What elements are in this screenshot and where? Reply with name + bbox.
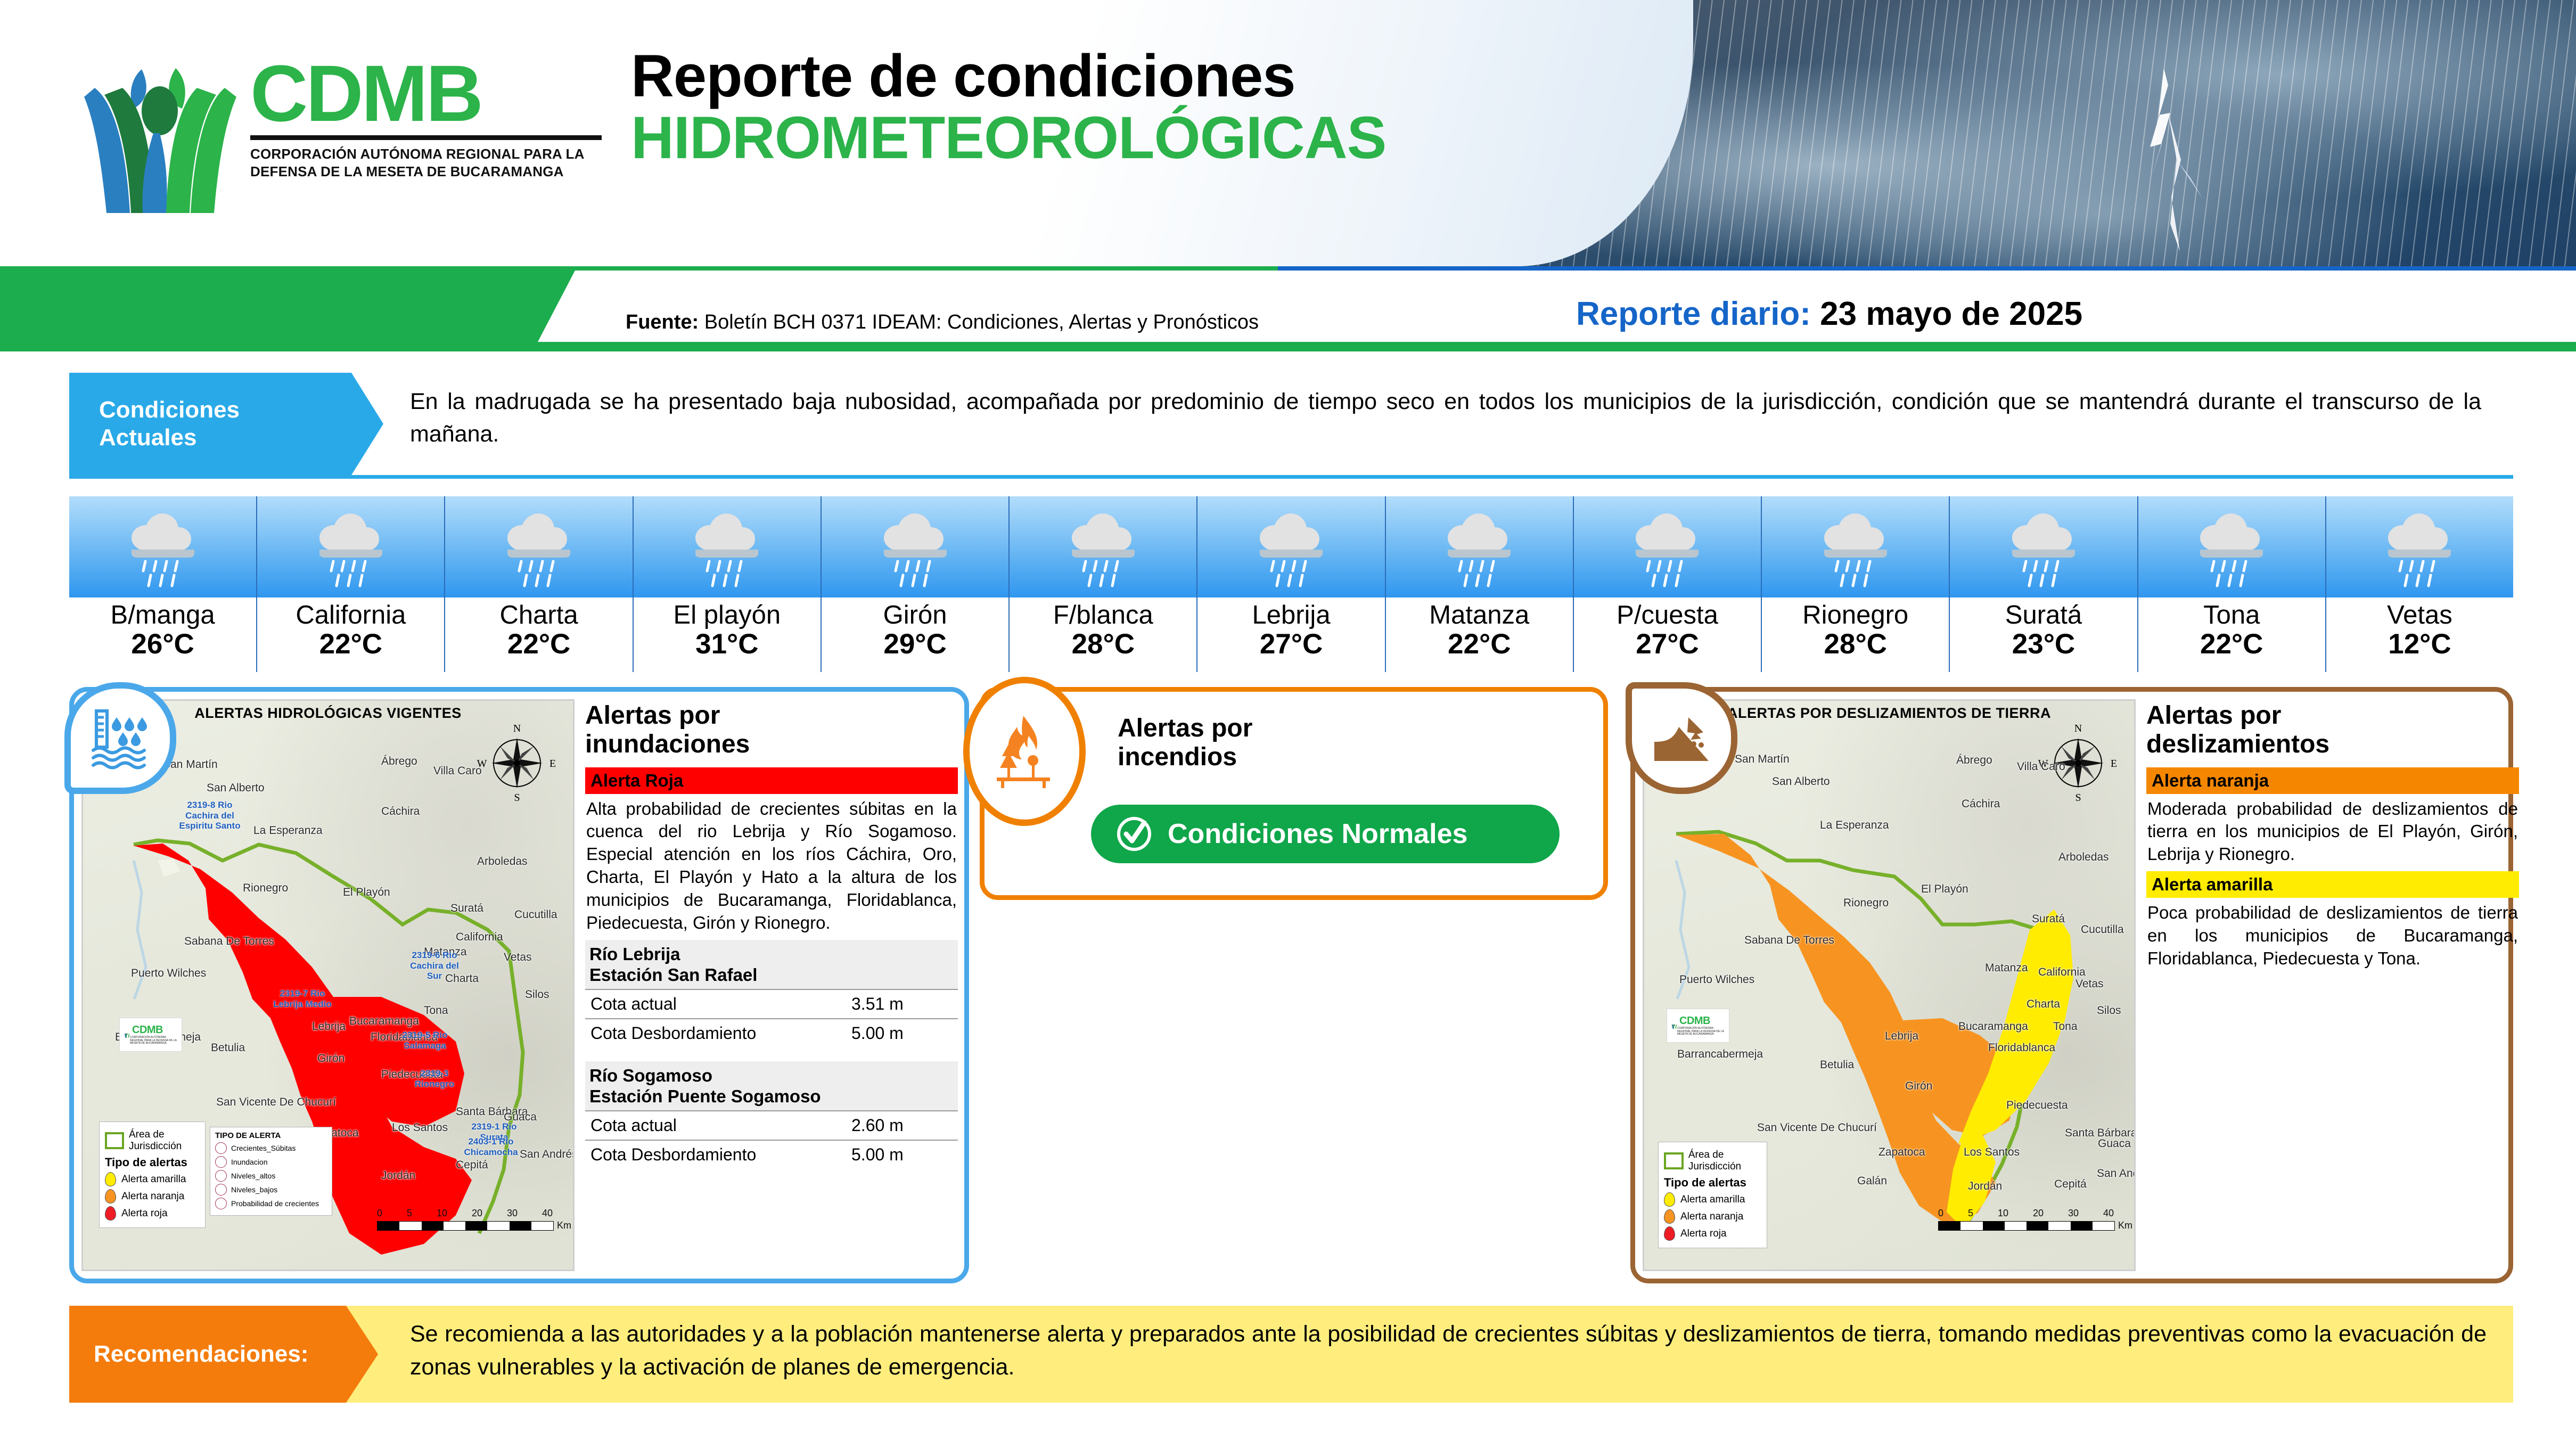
map-city-label: Suratá bbox=[450, 902, 483, 915]
row-label: Cota Desbordamiento bbox=[590, 1145, 756, 1165]
map-city-label: Los Santos bbox=[392, 1121, 448, 1134]
landslide-alert-details: Alertas por deslizamientos Alerta naranj… bbox=[2146, 701, 2519, 976]
weather-cell[interactable]: Lebrija 27°C bbox=[1197, 496, 1385, 672]
municipality-name: Tona bbox=[2138, 602, 2325, 629]
scale-blocks bbox=[377, 1221, 554, 1231]
map-city-label: Lebrija bbox=[312, 1020, 346, 1033]
scale-blocks bbox=[1938, 1221, 2115, 1231]
alert-type-title: TIPO DE ALERTA bbox=[215, 1131, 327, 1140]
report-date-line: Reporte diario: 23 mayo de 2025 bbox=[1576, 295, 2082, 333]
map-city-label: El Playón bbox=[1921, 883, 1968, 896]
municipality-temperature: 12°C bbox=[2326, 629, 2513, 660]
landslide-alert-level-badge: Alerta naranja bbox=[2146, 767, 2519, 794]
rain-cloud-icon bbox=[1816, 506, 1896, 591]
scale-tick: 20 bbox=[472, 1208, 482, 1219]
fire-status-label: Condiciones Normales bbox=[1168, 818, 1467, 850]
map-city-label: San Vicente De Chucurí bbox=[1757, 1121, 1877, 1134]
map-city-label: Charta bbox=[2027, 998, 2060, 1011]
municipality-temperature: 27°C bbox=[1197, 629, 1384, 660]
legend-color-swatch bbox=[1664, 1226, 1675, 1241]
map-city-label: Puerto Wilches bbox=[1679, 973, 1754, 986]
map-cdmb-logo: CDMB CORPORACIÓN AUTÓNOMA REGIONAL PARA … bbox=[1667, 1009, 1729, 1043]
landslide-icon bbox=[1650, 709, 1713, 767]
weather-cell[interactable]: P/cuesta 27°C bbox=[1574, 496, 1762, 672]
weather-cell[interactable]: California 22°C bbox=[257, 496, 445, 672]
map-logo-subtitle: CORPORACIÓN AUTÓNOMA REGIONAL PARA LA DE… bbox=[1677, 1027, 1725, 1036]
flood-alert-details: Alertas por inundaciones Alerta Roja Alt… bbox=[585, 701, 958, 1169]
municipality-name: Suratá bbox=[1950, 602, 2137, 629]
map-city-label: Cucutilla bbox=[2081, 923, 2124, 936]
flood-title: Alertas por inundaciones bbox=[585, 701, 958, 759]
map-city-label: Cáchira bbox=[1962, 798, 2000, 811]
flood-badge bbox=[64, 682, 176, 794]
map-city-label: Cucutilla bbox=[514, 908, 557, 921]
map-river-label: 2403-1 Rio Chicamocha bbox=[459, 1136, 523, 1157]
scale-tick: 0 bbox=[1938, 1208, 1943, 1219]
map-scale-bar: 0510203040 Km bbox=[377, 1208, 571, 1231]
map-city-label: Puerto Wilches bbox=[131, 967, 206, 980]
rain-cloud-icon bbox=[2004, 506, 2083, 591]
map-city-label: Galán bbox=[1857, 1175, 1887, 1188]
map-river-label: 2319-3 Rionegro bbox=[403, 1068, 466, 1089]
legend-type-row: Alerta naranja bbox=[105, 1189, 200, 1204]
legend-color-swatch bbox=[1664, 1192, 1675, 1207]
map-city-label: Betulia bbox=[1820, 1059, 1854, 1071]
weather-sky bbox=[2326, 496, 2513, 597]
svg-text:N: N bbox=[513, 723, 521, 734]
check-circle-icon bbox=[1114, 814, 1154, 854]
weather-cell[interactable]: Suratá 23°C bbox=[1950, 496, 2138, 672]
recommendations-tag: Recomendaciones: bbox=[69, 1306, 383, 1403]
municipality-temperature: 27°C bbox=[1574, 629, 1761, 660]
landslide-title-line2: deslizamientos bbox=[2146, 730, 2519, 759]
legend-color-swatch bbox=[105, 1206, 116, 1221]
map-legend-alert-kinds: TIPO DE ALERTA Crecientes_Súbitas Inunda… bbox=[210, 1127, 332, 1216]
weather-sky bbox=[69, 496, 256, 597]
station-header: Río Sogamoso Estación Puente Sogamoso bbox=[585, 1061, 958, 1110]
map-city-label: Girón bbox=[317, 1052, 344, 1065]
alert-kind-icon bbox=[215, 1198, 227, 1209]
municipality-temperature: 26°C bbox=[69, 629, 256, 660]
station-name: Estación Puente Sogamoso bbox=[589, 1086, 954, 1107]
map-scale-bar: 0510203040 Km bbox=[1938, 1208, 2132, 1231]
municipality-name: Matanza bbox=[1386, 602, 1573, 629]
svg-text:N: N bbox=[2074, 723, 2082, 734]
weather-cell[interactable]: Charta 22°C bbox=[445, 496, 633, 672]
weather-cell[interactable]: Girón 29°C bbox=[822, 496, 1010, 672]
municipality-temperature: 28°C bbox=[1010, 629, 1196, 660]
map-city-label: California bbox=[456, 931, 503, 944]
legend-alert-kind-row: Niveles_bajos bbox=[215, 1184, 327, 1196]
legend-alert-kind-row: Inundacion bbox=[215, 1156, 327, 1168]
flood-alert-level-badge: Alerta Roja bbox=[585, 767, 958, 794]
river-name: Río Lebrija bbox=[589, 944, 954, 965]
station-row: Cota actual 3.51 m bbox=[585, 989, 958, 1018]
municipality-name: California bbox=[257, 602, 444, 629]
lightning-icon bbox=[2113, 64, 2230, 256]
municipality-temperature: 22°C bbox=[257, 629, 444, 660]
report-label: Reporte diario: bbox=[1576, 296, 1811, 332]
alert-kind-label: Niveles_altos bbox=[231, 1172, 275, 1180]
map-city-label: San Alberto bbox=[1772, 775, 1830, 788]
fire-status-badge: Condiciones Normales bbox=[1091, 805, 1560, 863]
report-date: 23 mayo de 2025 bbox=[1820, 296, 2082, 332]
legend-type-row: Alerta roja bbox=[1664, 1226, 1761, 1241]
municipality-temperature: 29°C bbox=[822, 629, 1008, 660]
svg-text:E: E bbox=[549, 758, 556, 769]
legend-jurisdiction-row: Área de Jurisdicción bbox=[1664, 1149, 1761, 1173]
station-row: Cota Desbordamiento 5.00 m bbox=[585, 1140, 958, 1169]
map-city-label: Ábrego bbox=[1956, 754, 1992, 767]
alert-kind-label: Probabilidad de crecientes bbox=[231, 1199, 319, 1208]
map-river-label: 2319-6 Rio Cachira del Sur bbox=[403, 950, 466, 981]
scale-tick: 40 bbox=[542, 1208, 553, 1219]
municipality-name: Girón bbox=[822, 602, 1008, 629]
rain-cloud-icon bbox=[687, 506, 767, 591]
weather-cell[interactable]: Matanza 22°C bbox=[1386, 496, 1574, 672]
scale-tick: 20 bbox=[2033, 1208, 2044, 1219]
landslide-badge bbox=[1626, 682, 1737, 794]
weather-cell[interactable]: Tona 22°C bbox=[2138, 496, 2326, 672]
legend-type-row: Alerta roja bbox=[105, 1206, 200, 1221]
svg-text:S: S bbox=[2075, 792, 2081, 803]
logo-acronym: CDMB bbox=[250, 53, 612, 133]
municipality-temperature: 28°C bbox=[1762, 629, 1949, 660]
map-city-label: Silos bbox=[2097, 1004, 2121, 1017]
map-city-label: Silos bbox=[525, 988, 549, 1001]
weather-sky bbox=[822, 496, 1008, 597]
legend-alert-kind-row: Probabilidad de crecientes bbox=[215, 1198, 327, 1209]
flood-title-line2: inundaciones bbox=[585, 730, 958, 759]
municipality-temperature: 23°C bbox=[1950, 629, 2137, 660]
rain-cloud-icon bbox=[2192, 506, 2271, 591]
weather-sky bbox=[257, 496, 444, 597]
alert-kind-icon bbox=[215, 1170, 227, 1182]
municipality-temperature: 22°C bbox=[445, 629, 632, 660]
rain-cloud-icon bbox=[1251, 506, 1331, 591]
scale-tick: 10 bbox=[437, 1208, 447, 1219]
recommendations-section: Recomendaciones: Se recomienda a las aut… bbox=[69, 1306, 2513, 1403]
map-city-label: Jordán bbox=[381, 1169, 415, 1182]
municipality-temperature: 22°C bbox=[1386, 629, 1573, 660]
map-city-label: Cáchira bbox=[381, 805, 420, 818]
recommendations-text: Se recomienda a las autoridades y a la p… bbox=[410, 1317, 2487, 1384]
legend-types-title: Tipo de alertas bbox=[1664, 1176, 1761, 1190]
weather-cell[interactable]: El playón 31°C bbox=[634, 496, 822, 672]
weather-sky bbox=[1574, 496, 1761, 597]
legend-type-label: Alerta roja bbox=[121, 1208, 168, 1219]
scale-tick: 0 bbox=[377, 1208, 382, 1219]
forest-fire-icon bbox=[992, 711, 1056, 791]
fire-title-line2: incendios bbox=[1118, 743, 1252, 772]
flood-alerts-panel: ALERTAS HIDROLÓGICAS VIGENTES N S E W Sa… bbox=[69, 687, 969, 1283]
municipality-name: Lebrija bbox=[1197, 602, 1384, 629]
river-stations-table: Río Lebrija Estación San Rafael Cota act… bbox=[585, 940, 958, 1169]
weather-sky bbox=[1010, 496, 1196, 597]
map-city-label: Betulia bbox=[211, 1042, 245, 1054]
current-conditions-text: En la madrugada se ha presentado baja nu… bbox=[410, 386, 2481, 451]
legend-type-label: Alerta amarilla bbox=[121, 1174, 186, 1185]
map-legend-alert-types: Área de Jurisdicción Tipo de alertas Ale… bbox=[1658, 1142, 1767, 1248]
legend-type-label: Alerta naranja bbox=[1680, 1211, 1743, 1223]
map-city-label: Bucaramanga bbox=[349, 1015, 419, 1028]
landslide-title: Alertas por deslizamientos bbox=[2146, 701, 2519, 759]
row-label: Cota Desbordamiento bbox=[590, 1024, 756, 1043]
legend-type-label: Alerta roja bbox=[1680, 1228, 1727, 1240]
water-level-gauge-icon bbox=[89, 707, 152, 769]
map-legend-alert-types: Área de Jurisdicción Tipo de alertas Ale… bbox=[99, 1121, 206, 1228]
rain-cloud-icon bbox=[2380, 506, 2459, 591]
map-city-label: Bucaramanga bbox=[1958, 1020, 2028, 1033]
station-row: Cota actual 2.60 m bbox=[585, 1110, 958, 1140]
weather-sky bbox=[1950, 496, 2137, 597]
map-city-label: Girón bbox=[1905, 1080, 1932, 1093]
map-city-label: Villa Caro bbox=[433, 765, 482, 777]
scale-tick: 10 bbox=[1998, 1208, 2008, 1219]
map-city-label: Tona bbox=[2053, 1020, 2078, 1033]
source-label: Fuente: bbox=[626, 311, 699, 333]
map-city-label: Barrancabermeja bbox=[1677, 1048, 1763, 1061]
map-city-label: Rionegro bbox=[243, 882, 288, 895]
map-logo-text: CDMB bbox=[132, 1024, 177, 1036]
map-city-label: San Vicente De Chucurí bbox=[216, 1096, 336, 1109]
weather-sky bbox=[445, 496, 632, 597]
weather-cell[interactable]: Rionegro 28°C bbox=[1762, 496, 1950, 672]
legend-type-label: Alerta amarilla bbox=[1680, 1194, 1745, 1206]
map-logo-subtitle: CORPORACIÓN AUTÓNOMA REGIONAL PARA LA DE… bbox=[130, 1036, 177, 1045]
municipality-name: Charta bbox=[445, 602, 632, 629]
legend-jurisdiction-row: Área de Jurisdicción bbox=[105, 1129, 200, 1152]
map-cdmb-logo: CDMB CORPORACIÓN AUTÓNOMA REGIONAL PARA … bbox=[119, 1018, 182, 1052]
legend-alert-kind-row: Niveles_altos bbox=[215, 1170, 327, 1182]
map-city-label: Floridablanca bbox=[1988, 1042, 2055, 1054]
source-line: Fuente: Boletín BCH 0371 IDEAM: Condicio… bbox=[626, 311, 1259, 334]
map-city-label: Vetas bbox=[504, 951, 532, 964]
station-row: Cota Desbordamiento 5.00 m bbox=[585, 1018, 958, 1047]
alert-kind-icon bbox=[215, 1184, 227, 1196]
map-city-label: Piedecuesta bbox=[2006, 1099, 2068, 1112]
page-title: Reporte de condiciones HIDROMETEOROLÓGIC… bbox=[631, 45, 1386, 169]
river-name: Río Sogamoso bbox=[589, 1066, 954, 1086]
map-city-label: San Andrés bbox=[520, 1148, 575, 1161]
map-city-label: Lebrija bbox=[1885, 1030, 1918, 1043]
map-logo-mark bbox=[124, 1026, 130, 1044]
scale-unit: Km bbox=[557, 1220, 571, 1231]
landslide-alerts-map[interactable]: ALERTAS POR DESLIZAMIENTOS DE TIERRA N S… bbox=[1643, 699, 2136, 1271]
station-name: Estación San Rafael bbox=[589, 965, 954, 986]
weather-strip: B/manga 26°C California 22°C Charta 22°C… bbox=[69, 496, 2513, 672]
row-value: 3.51 m bbox=[851, 994, 953, 1014]
tag-line1: Condiciones bbox=[99, 396, 383, 424]
legend-color-swatch bbox=[105, 1172, 116, 1186]
logo-subtitle-line1: CORPORACIÓN AUTÓNOMA REGIONAL PARA LA bbox=[250, 145, 612, 163]
map-city-label: California bbox=[2038, 966, 2086, 979]
legend-color-swatch bbox=[105, 1189, 116, 1204]
title-line2: HIDROMETEOROLÓGICAS bbox=[631, 107, 1386, 169]
map-city-label: Villa Caro bbox=[2017, 760, 2065, 773]
map-river-label: 2319-5 Rio Salamaga bbox=[393, 1030, 457, 1051]
legend-type-label: Alerta naranja bbox=[121, 1191, 184, 1202]
flood-title-line1: Alertas por bbox=[585, 701, 958, 730]
cdmb-logo-mark bbox=[75, 37, 245, 213]
municipality-name: P/cuesta bbox=[1574, 602, 1761, 629]
map-city-label: Arboledas bbox=[2058, 851, 2109, 864]
map-city-label: Rionegro bbox=[1843, 897, 1889, 910]
municipality-name: Rionegro bbox=[1762, 602, 1949, 629]
rain-cloud-icon bbox=[1627, 506, 1707, 591]
map-logo-text: CDMB bbox=[1679, 1015, 1725, 1027]
scale-tick: 40 bbox=[2103, 1208, 2114, 1219]
row-value: 5.00 m bbox=[851, 1024, 953, 1043]
rain-cloud-icon bbox=[875, 506, 955, 591]
legend-alert-kind-row: Crecientes_Súbitas bbox=[215, 1142, 327, 1154]
logo-subtitle-line2: DEFENSA DE LA MESETA DE BUCARAMANGA bbox=[250, 163, 612, 181]
cdmb-logo: CDMB CORPORACIÓN AUTÓNOMA REGIONAL PARA … bbox=[75, 37, 612, 213]
weather-cell[interactable]: Vetas 12°C bbox=[2326, 496, 2513, 672]
municipality-name: El playón bbox=[634, 602, 821, 629]
fire-alerts-panel: Alertas por incendios Condiciones Normal… bbox=[980, 687, 1608, 900]
weather-sky bbox=[1762, 496, 1949, 597]
municipality-temperature: 31°C bbox=[634, 629, 821, 660]
map-logo-mark bbox=[1671, 1017, 1677, 1035]
row-value: 2.60 m bbox=[851, 1116, 953, 1135]
scale-tick: 30 bbox=[2068, 1208, 2079, 1219]
scale-tick: 5 bbox=[1968, 1208, 1973, 1219]
rain-cloud-icon bbox=[1063, 506, 1143, 591]
landslide-alert-description: Poca probabilidad de deslizamientos de t… bbox=[2146, 898, 2519, 976]
rain-cloud-icon bbox=[1439, 506, 1519, 591]
source-text: Boletín BCH 0371 IDEAM: Condiciones, Ale… bbox=[704, 311, 1259, 333]
map-city-label: Sabana De Torres bbox=[184, 935, 274, 948]
map-city-label: Ábrego bbox=[381, 755, 417, 768]
svg-text:S: S bbox=[514, 792, 520, 803]
flood-alert-description: Alta probabilidad de crecientes súbitas … bbox=[585, 794, 958, 940]
website-url[interactable]: www.cdmb.gov.co bbox=[96, 29, 336, 61]
map-city-label: Zapatoca bbox=[1878, 1146, 1925, 1159]
current-conditions-section: Condiciones Actuales En la madrugada se … bbox=[69, 373, 2513, 479]
map-city-label: Vetas bbox=[2075, 978, 2104, 990]
scale-unit: Km bbox=[2118, 1220, 2132, 1231]
weather-sky bbox=[634, 496, 821, 597]
legend-types-title: Tipo de alertas bbox=[105, 1156, 200, 1169]
title-line1: Reporte de condiciones bbox=[631, 45, 1386, 107]
map-city-label: San Alberto bbox=[207, 782, 265, 795]
alert-kind-icon bbox=[215, 1142, 227, 1154]
map-city-label: Tona bbox=[424, 1004, 448, 1017]
municipality-name: Vetas bbox=[2326, 602, 2513, 629]
jurisdiction-label: Área de Jurisdicción bbox=[1688, 1149, 1761, 1173]
alert-kind-label: Crecientes_Súbitas bbox=[231, 1144, 296, 1152]
fire-title: Alertas por incendios bbox=[1118, 714, 1252, 772]
scale-tick: 5 bbox=[407, 1208, 412, 1219]
map-city-label: Sabana De Torres bbox=[1744, 934, 1834, 947]
legend-type-row: Alerta naranja bbox=[1664, 1209, 1761, 1224]
map-city-label: La Esperanza bbox=[1820, 819, 1889, 832]
weather-cell[interactable]: F/blanca 28°C bbox=[1010, 496, 1197, 672]
alert-kind-label: Niveles_bajos bbox=[231, 1185, 277, 1194]
jurisdiction-swatch bbox=[1664, 1152, 1684, 1169]
map-city-label: Cepitá bbox=[2054, 1178, 2087, 1191]
scale-tick: 30 bbox=[507, 1208, 518, 1219]
rain-cloud-icon bbox=[123, 506, 203, 591]
map-city-label: Jordán bbox=[1968, 1180, 2002, 1193]
fire-badge bbox=[963, 677, 1086, 826]
row-label: Cota actual bbox=[590, 1116, 677, 1135]
map-river-label: 2319-8 Rio Cachira del Espiritu Santo bbox=[178, 800, 242, 831]
landslide-alert-level-badge: Alerta amarilla bbox=[2146, 871, 2519, 898]
map-city-label: Matanza bbox=[1985, 962, 2028, 975]
map-city-label: Cepitá bbox=[456, 1159, 488, 1172]
map-city-label: Arboledas bbox=[477, 855, 528, 868]
legend-color-swatch bbox=[1664, 1209, 1675, 1224]
map-river-label: 2319-7 Rio Lebrija Medio bbox=[270, 988, 334, 1009]
jurisdiction-label: Área de Jurisdicción bbox=[129, 1129, 200, 1152]
hydrological-alerts-map[interactable]: ALERTAS HIDROLÓGICAS VIGENTES N S E W Sa… bbox=[81, 699, 575, 1271]
map-city-label: Guaca bbox=[2098, 1137, 2131, 1150]
municipality-temperature: 22°C bbox=[2138, 629, 2325, 660]
weather-sky bbox=[2138, 496, 2325, 597]
legend-type-row: Alerta amarilla bbox=[1664, 1192, 1761, 1207]
fire-title-line1: Alertas por bbox=[1118, 714, 1252, 743]
rain-cloud-icon bbox=[311, 506, 391, 591]
rain-cloud-icon bbox=[499, 506, 579, 591]
tag-line2: Actuales bbox=[99, 424, 383, 452]
row-label: Cota actual bbox=[590, 994, 677, 1014]
landslide-alerts-panel: ALERTAS POR DESLIZAMIENTOS DE TIERRA N S… bbox=[1630, 687, 2513, 1283]
jurisdiction-swatch bbox=[105, 1132, 124, 1149]
map-city-label: El Playón bbox=[343, 886, 390, 899]
svg-text:E: E bbox=[2111, 758, 2117, 769]
current-conditions-tag: Condiciones Actuales bbox=[69, 373, 383, 475]
landslide-alert-description: Moderada probabilidad de deslizamientos … bbox=[2146, 794, 2519, 872]
page-header: CDMB CORPORACIÓN AUTÓNOMA REGIONAL PARA … bbox=[0, 0, 2576, 266]
weather-cell[interactable]: B/manga 26°C bbox=[69, 496, 257, 672]
map-city-label: Los Santos bbox=[1964, 1146, 2020, 1159]
map-city-label: La Esperanza bbox=[253, 824, 323, 837]
row-value: 5.00 m bbox=[851, 1145, 953, 1165]
municipality-name: F/blanca bbox=[1010, 602, 1196, 629]
alert-kind-icon bbox=[215, 1156, 227, 1168]
map-city-label: San Martín bbox=[1735, 753, 1790, 766]
compass-rose-icon: N S E W bbox=[477, 723, 557, 803]
alert-kind-label: Inundacion bbox=[231, 1158, 268, 1166]
url-date-bar bbox=[0, 266, 2576, 351]
weather-sky bbox=[1197, 496, 1384, 597]
legend-type-row: Alerta amarilla bbox=[105, 1172, 200, 1186]
landslide-title-line1: Alertas por bbox=[2146, 701, 2519, 730]
map-city-label: San Andrés bbox=[2097, 1167, 2136, 1180]
station-header: Río Lebrija Estación San Rafael bbox=[585, 940, 958, 989]
map-city-label: Suratá bbox=[2032, 913, 2065, 926]
municipality-name: B/manga bbox=[69, 602, 256, 629]
weather-sky bbox=[1386, 496, 1573, 597]
